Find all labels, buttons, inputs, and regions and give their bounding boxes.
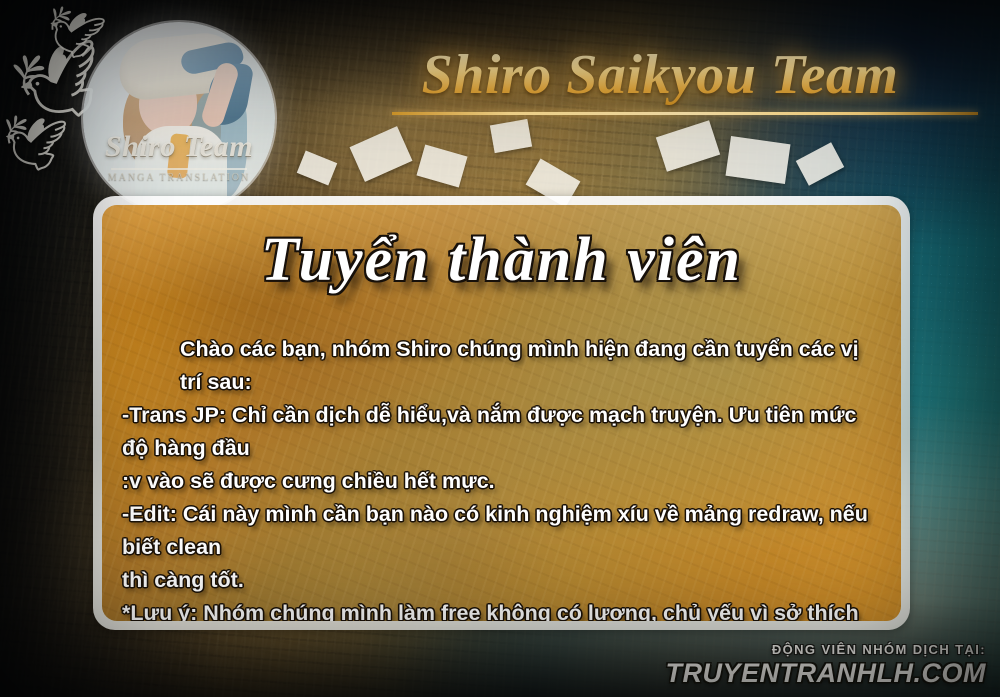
watermark-domain: TRUYENTRANHLH.COM xyxy=(666,658,986,689)
logo-divider xyxy=(111,168,247,170)
dove-icon: 🕊 xyxy=(0,114,69,175)
site-watermark: ĐỘNG VIÊN NHÓM DỊCH TẠI: TRUYENTRANHLH.C… xyxy=(666,642,986,689)
body-line: -Trans JP: Chỉ cần dịch dễ hiểu,và nắm đ… xyxy=(122,399,883,465)
logo-overlay-wash xyxy=(83,22,275,214)
body-line: Chào các bạn, nhóm Shiro chúng mình hiện… xyxy=(122,333,883,399)
card-heading: Tuyển thành viên xyxy=(102,229,901,291)
logo-subtitle: MANGA TRANSLATION xyxy=(83,172,275,183)
flying-paper-icon xyxy=(726,136,791,184)
logo-team-name: Shiro Team xyxy=(83,130,275,164)
card-body-text: Chào các bạn, nhóm Shiro chúng mình hiện… xyxy=(122,333,883,621)
site-title: Shiro Saikyou Team xyxy=(330,45,990,107)
recruitment-card-frame: Tuyển thành viên Chào các bạn, nhóm Shir… xyxy=(93,196,910,630)
body-line: -Edit: Cái này mình cần bạn nào có kinh … xyxy=(122,498,883,564)
site-title-underline xyxy=(392,112,978,115)
team-logo[interactable]: Shiro Team MANGA TRANSLATION xyxy=(83,22,275,214)
page-root: 🕊 🕊 🕊 Shiro Team MANGA TRANSLATION Shiro… xyxy=(0,0,1000,697)
body-line: :v vào sẽ được cưng chiều hết mực. xyxy=(122,465,883,498)
body-line: *Lưu ý: Nhóm chúng mình làm free không c… xyxy=(122,597,883,621)
body-line: thì càng tốt. xyxy=(122,564,883,597)
recruitment-card: Tuyển thành viên Chào các bạn, nhóm Shir… xyxy=(102,205,901,621)
watermark-caption: ĐỘNG VIÊN NHÓM DỊCH TẠI: xyxy=(666,642,986,657)
